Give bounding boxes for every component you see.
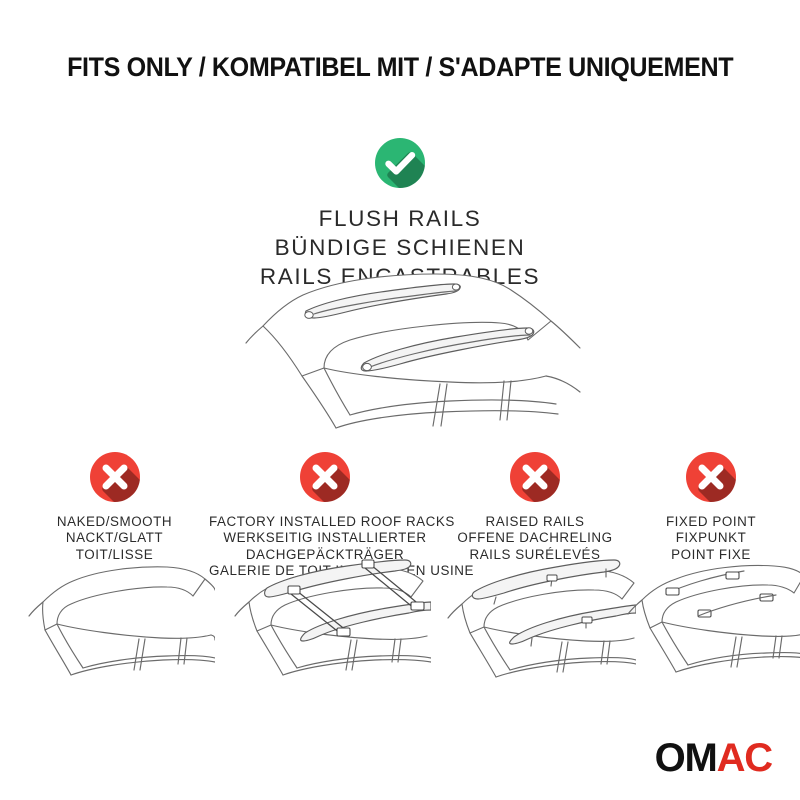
rejected-options-row: NAKED/SMOOTH NACKT/GLATT TOIT/LISSE (0, 452, 800, 692)
rejected-option-factory-roof-racks: FACTORY INSTALLED ROOF RACKS WERKSEITIG … (209, 452, 441, 579)
car-roof-naked-smooth-illustration (15, 556, 215, 684)
logo-part-dark: OM (655, 736, 717, 780)
option-label-line: NACKT/GLATT (17, 530, 212, 546)
badge-wrap (209, 452, 441, 506)
cross-mark-icon (510, 452, 560, 502)
cross-mark-icon (300, 452, 350, 502)
option-label-line: FACTORY INSTALLED ROOF RACKS (209, 514, 441, 530)
car-roof-flush-rails-illustration (228, 268, 594, 444)
car-roof-factory-roof-racks-illustration (219, 544, 431, 684)
rejected-option-fixed-point: FIXED POINT FIXPUNKT POINT FIXE (628, 452, 794, 563)
rejected-option-naked-smooth: NAKED/SMOOTH NACKT/GLATT TOIT/LISSE (17, 452, 212, 563)
cross-mark-icon (686, 452, 736, 502)
car-roof-fixed-point-illustration (618, 548, 800, 682)
approved-label-de: BÜNDIGE SCHIENEN (0, 234, 800, 263)
page-title-bar: FITS ONLY / KOMPATIBEL MIT / S'ADAPTE UN… (0, 52, 800, 83)
rejected-option-raised-rails: RAISED RAILS OFFENE DACHRELING RAILS SUR… (440, 452, 630, 563)
check-mark-icon (375, 138, 425, 188)
page-title: FITS ONLY / KOMPATIBEL MIT / S'ADAPTE UN… (67, 52, 733, 83)
omac-logo: OMAC (655, 738, 772, 778)
approved-label-en: FLUSH RAILS (0, 205, 800, 234)
badge-wrap (440, 452, 630, 506)
badge-wrap (628, 452, 794, 506)
option-label-line: FIXPUNKT (628, 530, 794, 546)
option-label-line: NAKED/SMOOTH (17, 514, 212, 530)
option-label-line: RAISED RAILS (440, 514, 630, 530)
option-label-line: FIXED POINT (628, 514, 794, 530)
option-label-line: OFFENE DACHRELING (440, 530, 630, 546)
car-roof-raised-rails-illustration (434, 548, 636, 684)
logo-part-accent: AC (717, 736, 772, 780)
badge-wrap (17, 452, 212, 506)
cross-mark-icon (90, 452, 140, 502)
